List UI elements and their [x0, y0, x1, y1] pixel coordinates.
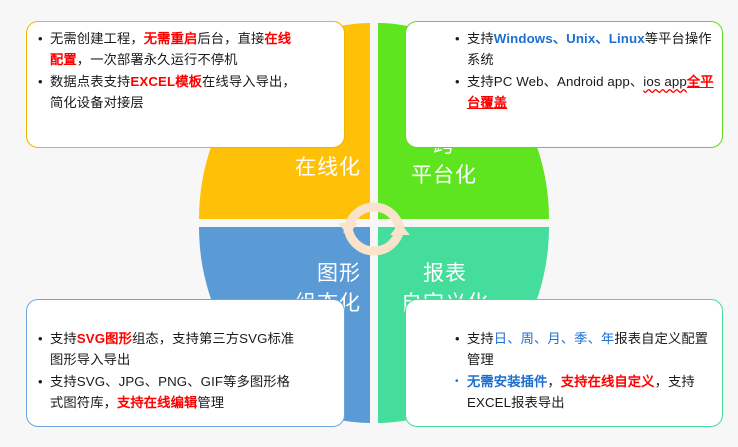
bullet-icon: •: [455, 329, 460, 350]
list-item: •无需安装插件，支持在线自定义，支持EXCEL报表导出: [454, 372, 716, 413]
highlight-text: 支持在线自定义: [561, 374, 655, 389]
highlight-text: 无需重启: [144, 31, 198, 46]
list-item: •支持Windows、Unix、Linux等平台操作系统: [454, 29, 716, 70]
bullet-icon: •: [455, 72, 460, 93]
spellcheck-text: ios app: [643, 74, 687, 89]
callout-box-cross-platform[interactable]: •支持Windows、Unix、Linux等平台操作系统•支持PC Web、An…: [405, 21, 723, 148]
callout-list-graphics: •支持SVG图形组态，支持第三方SVG标准图形导入导出•支持SVG、JPG、PN…: [37, 329, 299, 415]
list-item: •无需创建工程，无需重启后台，直接在线配置，一次部署永久运行不停机: [37, 29, 299, 70]
quadrant-label-online: 在线化: [261, 153, 361, 183]
bullet-icon: •: [38, 29, 43, 50]
bullet-icon: •: [38, 372, 43, 393]
list-item: •数据点表支持EXCEL模板在线导入导出，简化设备对接层: [37, 72, 299, 113]
list-item: •支持SVG图形组态，支持第三方SVG标准图形导入导出: [37, 329, 299, 370]
circular-arrows-icon: [336, 191, 412, 267]
callout-box-graphics[interactable]: •支持SVG图形组态，支持第三方SVG标准图形导入导出•支持SVG、JPG、PN…: [26, 299, 345, 427]
highlight-text: Windows、Unix、Linux: [494, 31, 645, 46]
highlight-text: 日、周、月、季、年: [494, 331, 615, 346]
bullet-icon: •: [38, 72, 43, 93]
quadrant-label-cross-platform-line2: 平台化: [389, 161, 499, 191]
highlight-text: EXCEL模板: [130, 74, 202, 89]
callout-list-online: •无需创建工程，无需重启后台，直接在线配置，一次部署永久运行不停机•数据点表支持…: [37, 29, 299, 115]
list-item: •支持PC Web、Android app、ios app全平台覆盖: [454, 72, 716, 113]
list-item: •支持日、周、月、季、年报表自定义配置管理: [454, 329, 716, 370]
bullet-icon: •: [455, 372, 459, 393]
bullet-icon: •: [38, 329, 43, 350]
bullet-icon: •: [455, 29, 460, 50]
callout-list-cross-platform: •支持Windows、Unix、Linux等平台操作系统•支持PC Web、An…: [454, 29, 716, 115]
quadrant-label-online-line1: 在线化: [261, 153, 361, 183]
highlight-text: 无需安装插件: [467, 374, 547, 389]
list-item: •支持SVG、JPG、PNG、GIF等多图形格式图符库，支持在线编辑管理: [37, 372, 299, 413]
callout-box-report[interactable]: •支持日、周、月、季、年报表自定义配置管理•无需安装插件，支持在线自定义，支持E…: [405, 299, 723, 427]
highlight-text: 支持在线编辑: [117, 395, 197, 410]
callout-box-online[interactable]: •无需创建工程，无需重启后台，直接在线配置，一次部署永久运行不停机•数据点表支持…: [26, 21, 345, 148]
callout-list-report: •支持日、周、月、季、年报表自定义配置管理•无需安装插件，支持在线自定义，支持E…: [454, 329, 716, 415]
diagram-canvas: 在线化 跨 平台化 图形 组态化 报表 自定义化 •无需创建工程，无需重启后台，…: [0, 0, 738, 447]
highlight-text: SVG图形: [77, 331, 132, 346]
